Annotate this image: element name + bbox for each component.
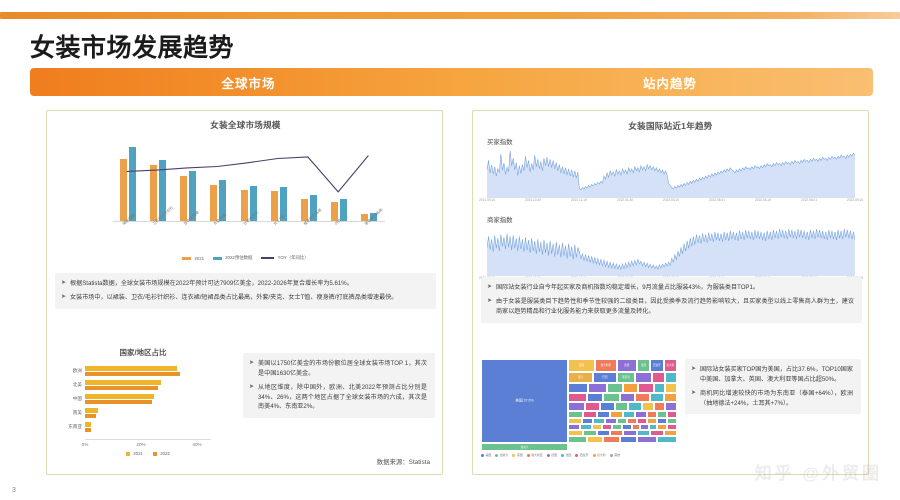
hbar-2022: [85, 414, 96, 419]
column-bar-2021: [180, 176, 187, 221]
treemap-cell-label: 西班牙: [653, 363, 661, 367]
treemap-legend-label: 英国: [517, 453, 523, 457]
bullet-marker: ➤: [691, 365, 696, 385]
treemap-cell[interactable]: [654, 383, 666, 393]
hbar-2021: [85, 422, 91, 427]
column-bar-2022: [340, 199, 347, 221]
bullet-marker: ➤: [61, 279, 66, 289]
treemap-cell[interactable]: [623, 411, 635, 418]
treemap-legend-item: 德国: [547, 453, 557, 457]
hbar-2021: [85, 366, 177, 371]
hbar-2022: [85, 372, 180, 377]
sparkline-xtick: 2022.09.15: [847, 198, 863, 202]
treemap-cell-label: 美国 37.6%: [515, 398, 533, 403]
hbar-plot: 欧洲北美中国南美东南亚: [85, 365, 211, 437]
panel-global-market: 女装全球市场规模 裙装/套装卫衣/毛衫针织衫连衣裙/短裙外套/夹克针织/毛织衫女…: [46, 110, 443, 475]
bullet-marker: ➤: [249, 383, 254, 413]
treemap-cell[interactable]: [607, 383, 624, 393]
treemap-legend-label: 西班牙: [580, 453, 589, 457]
tab-global-market[interactable]: 全球市场: [30, 68, 467, 96]
bullet-text: 从地区维度，除中国外，欧洲、北美2022年预测占比分别是34%、26%，这两个地…: [258, 383, 427, 413]
treemap-cell[interactable]: 德国: [617, 359, 637, 372]
treemap-cell[interactable]: [667, 411, 677, 418]
treemap-cell[interactable]: 西班牙: [650, 359, 663, 372]
bullet-marker: ➤: [487, 283, 492, 293]
treemap-cell[interactable]: [585, 402, 600, 410]
bullet-marker: ➤: [249, 359, 254, 379]
treemap-legend-item: 澳大利亚: [527, 453, 543, 457]
buyer-index-xaxis: 2021.09.152021.10.302021.12.152022.01.30…: [487, 198, 855, 206]
hbar-row: 北美: [85, 379, 211, 391]
column-chart-plot: [113, 141, 385, 221]
tab-site-trends[interactable]: 站内趋势: [467, 68, 873, 96]
bullet-item: ➤ 商机同比增速较快的市场为东南亚（泰国+64%），欧洲（抽地德法+24%，土耳…: [691, 389, 853, 409]
treemap-cell-label: 意大利: [666, 363, 674, 367]
chart-title-global-size: 女装全球市场规模: [53, 119, 438, 131]
treemap-legend-item: 其他: [610, 453, 620, 457]
treemap-cell-label: 德国: [624, 363, 629, 367]
treemap-cell[interactable]: [620, 436, 637, 442]
treemap-cell-label: 澳大利亚: [601, 363, 611, 367]
column-bar-2022: [129, 147, 136, 221]
buyer-index-sparkline: [487, 148, 855, 198]
bullet-text: 美国以1750亿美金的市场份额位居全球女装市场TOP 1，其次是中国1630亿美…: [258, 359, 427, 379]
merchant-index-sparkline: [487, 226, 855, 276]
sparkline-xtick: 2022.03.15: [663, 198, 679, 202]
bullet-item: ➤ 国际站女装买家TOP国为美国，占比37.6%，TOP10国家中美国、加拿大、…: [691, 365, 853, 385]
treemap-cell[interactable]: [603, 393, 620, 402]
treemap-cell[interactable]: 意大利: [664, 359, 677, 372]
treemap-legend-label: 法国: [566, 453, 572, 457]
hbar-row: 中国: [85, 393, 211, 405]
hbar-2022: [85, 400, 152, 405]
column-bar-2021: [241, 190, 248, 221]
treemap-cell[interactable]: [587, 436, 604, 442]
sparkline-xtick: 2022.06.15: [755, 198, 771, 202]
treemap-cell[interactable]: [615, 402, 628, 410]
column-chart-legend: 2021 2022预估数据 YOY（年同比）: [53, 255, 438, 261]
treemap-cell[interactable]: 英国: [568, 359, 595, 372]
bullet-item: ➤ 由于女装是服装类目下趋势性和季节性较强的二级类目，因此受换季及流行趋势影响较…: [487, 297, 854, 317]
treemap-legend-label: 美国: [486, 453, 492, 457]
sparkline-xtick: 2022.08.01: [801, 198, 817, 202]
column-bar-2021: [120, 159, 127, 221]
bullet-text: 国际站女装行业自今年起买家及商机指数均稳定增长，9月流量占比服装43%，为服装类…: [496, 283, 759, 293]
treemap-legend-item: 意大利: [593, 453, 606, 457]
treemap-cell[interactable]: 墨西哥: [617, 372, 635, 383]
column-group: [271, 141, 293, 221]
treemap-cell[interactable]: [603, 436, 620, 442]
source-note: 数据来源：Statista: [377, 457, 430, 466]
treemap-cell[interactable]: 澳大利亚: [595, 359, 617, 372]
legend-item-2021: 2021: [126, 451, 143, 456]
bullet-item: ➤ 从地区维度，除中国外，欧洲、北美2022年预测占比分别是34%、26%，这两…: [249, 383, 427, 413]
treemap-cell-label: 巴西: [602, 375, 607, 379]
treemap-legend-item: 美国: [481, 453, 491, 457]
page-title: 女装市场发展趋势: [30, 28, 234, 64]
bullets-site-trends: ➤ 国际站女装行业自今年起买家及商机指数均稳定增长，9月流量占比服装43%，为服…: [481, 277, 862, 323]
bullet-marker: ➤: [691, 389, 696, 409]
hbar-row: 欧洲: [85, 365, 211, 377]
treemap-cell[interactable]: 美国 37.6%: [481, 359, 568, 443]
treemap-cell[interactable]: [568, 436, 586, 442]
treemap-plot: 美国 37.6%加拿大英国澳大利亚德国法国西班牙意大利荷兰巴西墨西哥: [481, 359, 677, 451]
treemap-cell[interactable]: [583, 411, 596, 418]
treemap-cell-label: 墨西哥: [622, 375, 630, 379]
column-chart-xlabels: 裙装/套装卫衣/毛衫针织衫连衣裙/短裙外套/夹克针织/毛织衫女士T恤瘦身裤/打底…: [113, 223, 385, 257]
bullets-country-share: ➤ 美国以1750亿美金的市场份额位居全球女装市场TOP 1，其次是中国1630…: [243, 353, 435, 418]
hbar-category-label: 南美: [55, 407, 82, 419]
treemap-cell[interactable]: 法国: [637, 359, 650, 372]
treemap-legend-label: 其他: [614, 453, 620, 457]
hbar-category-label: 欧洲: [55, 365, 82, 377]
hbar-xtick: 0%: [82, 442, 89, 447]
bullet-item: ➤ 根据Statista数据，全球女装市场规模在2022年预计可达7909亿美金…: [61, 279, 428, 289]
treemap-cell[interactable]: [652, 372, 665, 383]
column-bar-2021: [271, 191, 278, 221]
column-group: [241, 141, 263, 221]
treemap-cell-label: 法国: [641, 363, 646, 367]
treemap-cell[interactable]: [647, 411, 657, 418]
treemap-cell[interactable]: [600, 402, 615, 410]
treemap-cell[interactable]: [657, 436, 677, 442]
hbar-xtick: 40%: [192, 442, 201, 447]
bullets-global-market: ➤ 根据Statista数据，全球女装市场规模在2022年预计可达7909亿美金…: [55, 273, 436, 309]
treemap-cell[interactable]: [642, 402, 654, 410]
column-bar-2021: [331, 202, 338, 221]
legend-label-yoy: YOY（年同比）: [277, 255, 308, 261]
column-group: [210, 141, 232, 221]
treemap-cell[interactable]: [587, 393, 604, 402]
hbar-category-label: 中国: [55, 393, 82, 405]
page-number: 3: [12, 487, 16, 494]
legend-item-2022: 2022预估数据: [213, 255, 252, 261]
hbar-category-label: 东南亚: [55, 421, 82, 433]
treemap-cell[interactable]: 加拿大: [481, 443, 568, 451]
hbar-2022: [85, 386, 158, 391]
treemap-legend-item: 法国: [561, 453, 571, 457]
buyer-index-label: 买家指数: [487, 137, 855, 146]
hbar-2021: [85, 394, 154, 399]
treemap-cell[interactable]: [657, 411, 667, 418]
hbar-legend: 2021 2022: [85, 451, 211, 456]
bullet-text: 商机同比增速较快的市场为东南亚（泰国+64%），欧洲（抽地德法+24%，土耳其+…: [700, 389, 853, 409]
bullet-item: ➤ 国际站女装行业自今年起买家及商机指数均稳定增长，9月流量占比服装43%，为服…: [487, 283, 854, 293]
treemap-cell[interactable]: [665, 372, 677, 383]
treemap-cell[interactable]: [635, 411, 647, 418]
bullet-marker: ➤: [487, 297, 492, 317]
bullet-text: 国际站女装买家TOP国为美国，占比37.6%，TOP10国家中美国、加拿大、英国…: [700, 365, 853, 385]
treemap-cell-label: 加拿大: [521, 445, 529, 449]
chart-title-country-share: 国家/地区占比: [55, 347, 231, 358]
column-bar-2021: [210, 185, 217, 221]
treemap-legend-item: 英国: [512, 453, 522, 457]
treemap-cell[interactable]: [610, 411, 623, 418]
column-group: [120, 141, 142, 221]
slide-root: 女装市场发展趋势 全球市场 站内趋势 女装全球市场规模 裙装/套装卫衣/毛衫针织…: [0, 0, 900, 500]
top-accent-bar: [0, 12, 900, 19]
hbar-2021: [85, 380, 161, 385]
legend-item-yoy: YOY（年同比）: [261, 255, 308, 261]
legend-label-2022: 2022预估数据: [225, 255, 252, 261]
chart-title-site-trend: 女装国际站近1年趋势: [473, 120, 868, 132]
treemap-legend-label: 德国: [551, 453, 557, 457]
tab-strip: 全球市场 站内趋势: [30, 68, 873, 96]
hbar-row: 东南亚: [85, 421, 211, 433]
legend-label-2022: 2022: [160, 451, 170, 456]
treemap-cell[interactable]: [650, 393, 663, 402]
legend-item-2021: 2021: [182, 256, 204, 261]
chart-global-market-size: 女装全球市场规模 裙装/套装卫衣/毛衫针织衫连衣裙/短裙外套/夹克针织/毛织衫女…: [53, 119, 438, 267]
treemap-cell[interactable]: [568, 383, 588, 393]
treemap-cell[interactable]: [637, 436, 657, 442]
legend-label-2021: 2021: [194, 256, 204, 261]
hbar-2021: [85, 408, 98, 413]
bullet-item: ➤ 美国以1750亿美金的市场份额位居全球女装市场TOP 1，其次是中国1630…: [249, 359, 427, 379]
treemap-cell[interactable]: [628, 402, 641, 410]
treemap-legend-label: 意大利: [597, 453, 606, 457]
bullets-treemap: ➤ 国际站女装买家TOP国为美国，占比37.6%，TOP10国家中美国、加拿大、…: [685, 359, 861, 414]
panel-site-trends: 女装国际站近1年趋势 买家指数 2021.09.152021.10.302021…: [472, 110, 869, 475]
column-group: [180, 141, 202, 221]
bullet-text: 女装市场中，以裙装、卫衣/毛衫针织衫、连衣裙/短裙品类占比最高，外套/夹克、女士…: [70, 293, 397, 303]
sparkline-xtick: 2021.12.15: [571, 198, 587, 202]
hbar-xtick: 20%: [136, 442, 145, 447]
treemap-legend-item: 加拿大: [495, 453, 508, 457]
treemap-cell[interactable]: [623, 383, 638, 393]
treemap-cell-label: 荷兰: [578, 375, 583, 379]
treemap-cell[interactable]: 荷兰: [568, 372, 593, 383]
legend-label-2021: 2021: [133, 451, 143, 456]
treemap-cell[interactable]: [597, 411, 610, 418]
chart-buyer-index: 买家指数 2021.09.152021.10.302021.12.152022.…: [487, 137, 855, 206]
treemap-cell[interactable]: [664, 393, 677, 402]
treemap-cell[interactable]: [620, 393, 635, 402]
treemap-cell[interactable]: [568, 402, 585, 410]
sparkline-xtick: 2021.09.15: [479, 198, 495, 202]
treemap-cell[interactable]: [588, 383, 606, 393]
treemap-cell-label: 英国: [579, 363, 584, 367]
treemap-legend-item: 西班牙: [575, 453, 588, 457]
column-group: [331, 141, 353, 221]
bullet-item: ➤ 女装市场中，以裙装、卫衣/毛衫针织衫、连衣裙/短裙品类占比最高，外套/夹克、…: [61, 293, 428, 303]
hbar-axis: 0%20%40%: [85, 439, 211, 449]
hbar-category-label: 北美: [55, 379, 82, 391]
chart-country-share: 国家/地区占比 欧洲北美中国南美东南亚 0%20%40% 2021 2022: [55, 347, 231, 465]
treemap-cell[interactable]: [638, 383, 653, 393]
bullet-text: 根据Statista数据，全球女装市场规模在2022年预计可达7909亿美金，2…: [70, 279, 353, 289]
treemap-cell[interactable]: [665, 402, 677, 410]
hbar-row: 南美: [85, 407, 211, 419]
treemap-cell[interactable]: [568, 411, 583, 418]
treemap-legend-label: 澳大利亚: [531, 453, 543, 457]
merchant-index-label: 商家指数: [487, 215, 855, 224]
treemap-cell[interactable]: [635, 393, 650, 402]
sparkline-xtick: 2022.05.01: [709, 198, 725, 202]
legend-item-2022: 2022: [153, 451, 170, 456]
treemap-legend: 美国加拿大英国澳大利亚德国法国西班牙意大利其他: [481, 453, 677, 457]
treemap-legend-label: 加拿大: [500, 453, 509, 457]
sparkline-xtick: 2022.01.30: [617, 198, 633, 202]
chart-buyer-country-treemap: 美国 37.6%加拿大英国澳大利亚德国法国西班牙意大利荷兰巴西墨西哥 美国加拿大…: [481, 359, 677, 467]
sparkline-xtick: 2021.10.30: [525, 198, 541, 202]
column-bar-2021: [150, 165, 157, 221]
hbar-2022: [85, 428, 91, 433]
treemap-cell[interactable]: [665, 383, 677, 393]
chart-merchant-index: 商家指数 2021.09.152021.10.302021.12.152022.…: [487, 215, 855, 284]
treemap-cell[interactable]: [568, 393, 586, 402]
bullet-text: 由于女装是服装类目下趋势性和季节性较强的二级类目，因此受换季及流行趋势影响较大，…: [496, 297, 854, 317]
treemap-cell[interactable]: [635, 372, 652, 383]
bullet-marker: ➤: [61, 293, 66, 303]
treemap-cell[interactable]: [654, 402, 666, 410]
treemap-cell[interactable]: 巴西: [593, 372, 616, 383]
